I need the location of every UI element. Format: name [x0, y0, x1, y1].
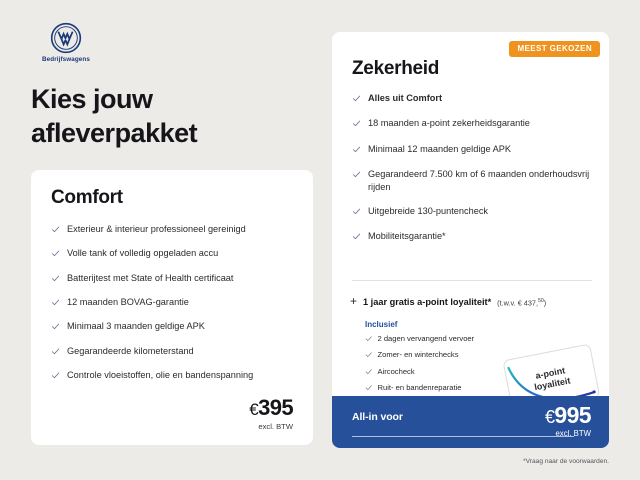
- vw-roundel-logo-icon: [35, 22, 97, 54]
- check-icon: [365, 384, 373, 394]
- zekerheid-feature-item: Alles uit Comfort: [352, 92, 594, 107]
- check-icon: [51, 371, 60, 384]
- comfort-feature-item: Volle tank of volledig opgeladen accu: [51, 247, 293, 262]
- check-icon: [51, 225, 60, 238]
- comfort-feature-label: Gegarandeerde kilometerstand: [67, 345, 194, 358]
- comfort-feature-list: Exterieur & interieur professioneel gere…: [51, 223, 293, 384]
- page-title: Kies jouw afleverpakket: [31, 82, 311, 150]
- comfort-feature-item: Controle vloeistoffen, olie en bandenspa…: [51, 369, 293, 384]
- zekerheid-title: Zekerheid: [352, 58, 439, 80]
- status-badge: MEEST GEKOZEN: [509, 41, 600, 57]
- zekerheid-feature-label: Uitgebreide 130-puntencheck: [368, 205, 488, 218]
- check-icon: [352, 170, 361, 183]
- comfort-feature-item: 12 maanden BOVAG-garantie: [51, 296, 293, 311]
- comfort-feature-label: Batterijtest met State of Health certifi…: [67, 272, 233, 285]
- inclusief-item-label: Aircocheck: [378, 367, 415, 377]
- zekerheid-feature-list: Alles uit Comfort18 maanden a-point zeke…: [352, 92, 594, 255]
- comfort-feature-label: Minimaal 3 maanden geldige APK: [67, 320, 205, 333]
- check-icon: [365, 368, 373, 378]
- check-icon: [51, 322, 60, 335]
- check-icon: [352, 232, 361, 245]
- comfort-currency: €: [249, 400, 258, 419]
- zekerheid-feature-item: Mobiliteitsgarantie*: [352, 230, 594, 245]
- zekerheid-feature-label: Mobiliteitsgarantie*: [368, 230, 446, 243]
- check-icon: [365, 351, 373, 361]
- comfort-feature-item: Batterijtest met State of Health certifi…: [51, 272, 293, 287]
- comfort-feature-item: Minimaal 3 maanden geldige APK: [51, 320, 293, 335]
- comfort-amount: 395: [258, 395, 293, 420]
- zekerheid-feature-label: 18 maanden a-point zekerheidsgarantie: [368, 117, 530, 130]
- divider: [352, 280, 592, 281]
- zekerheid-feature-item: Gegarandeerd 7.500 km of 6 maanden onder…: [352, 168, 594, 195]
- comfort-feature-item: Gegarandeerde kilometerstand: [51, 345, 293, 360]
- allin-label: All-in voor: [352, 411, 403, 423]
- check-icon: [352, 207, 361, 220]
- check-icon: [352, 94, 361, 107]
- inclusief-title: Inclusief: [365, 320, 565, 329]
- loyalty-value: (t.w.v. € 437,50): [497, 298, 546, 307]
- comfort-price: €395: [249, 397, 293, 419]
- allin-amount: 995: [554, 402, 591, 428]
- check-icon: [51, 249, 60, 262]
- zekerheid-feature-item: Uitgebreide 130-puntencheck: [352, 205, 594, 220]
- loyalty-label: 1 jaar gratis a-point loyaliteit*: [363, 297, 491, 307]
- headline-line-2: afleverpakket: [31, 116, 311, 150]
- zekerheid-feature-item: 18 maanden a-point zekerheidsgarantie: [352, 117, 594, 132]
- loyalty-value-prefix: (t.w.v. € 437,: [497, 298, 538, 307]
- brand-block: Bedrijfswagens: [35, 22, 97, 63]
- inclusief-item-label: Zomer- en winterchecks: [378, 350, 459, 360]
- left-column: Bedrijfswagens Kies jouw afleverpakket C…: [0, 0, 332, 480]
- zekerheid-feature-label: Minimaal 12 maanden geldige APK: [368, 143, 511, 156]
- comfort-feature-item: Exterieur & interieur professioneel gere…: [51, 223, 293, 238]
- zekerheid-feature-label: Alles uit Comfort: [368, 92, 442, 105]
- brand-sublabel: Bedrijfswagens: [35, 57, 97, 63]
- check-icon: [365, 335, 373, 345]
- zekerheid-package-card[interactable]: MEEST GEKOZEN Zekerheid Alles uit Comfor…: [332, 32, 609, 444]
- comfort-feature-label: Exterieur & interieur professioneel gere…: [67, 223, 246, 236]
- footer-rule: [352, 436, 574, 437]
- comfort-package-card[interactable]: Comfort Exterieur & interieur profession…: [31, 170, 313, 445]
- headline-line-1: Kies jouw: [31, 82, 311, 116]
- allin-currency: €: [545, 407, 554, 427]
- comfort-feature-label: Volle tank of volledig opgeladen accu: [67, 247, 218, 260]
- allin-price: €995: [545, 404, 591, 427]
- comfort-feature-label: 12 maanden BOVAG-garantie: [67, 296, 189, 309]
- check-icon: [51, 298, 60, 311]
- promo-page: Bedrijfswagens Kies jouw afleverpakket C…: [0, 0, 640, 480]
- comfort-title: Comfort: [51, 187, 293, 209]
- comfort-feature-label: Controle vloeistoffen, olie en bandenspa…: [67, 369, 253, 382]
- allin-price-footer: All-in voor €995 excl. BTW: [332, 396, 609, 448]
- check-icon: [51, 347, 60, 360]
- inclusief-item-label: 2 dagen vervangend vervoer: [378, 334, 475, 344]
- disclaimer-text: *Vraag naar de voorwaarden.: [523, 458, 609, 465]
- check-icon: [352, 119, 361, 132]
- check-icon: [352, 145, 361, 158]
- comfort-price-note: excl. BTW: [249, 422, 293, 431]
- comfort-price-block: €395 excl. BTW: [249, 397, 293, 431]
- zekerheid-feature-item: Minimaal 12 maanden geldige APK: [352, 143, 594, 158]
- loyalty-value-suffix: ): [544, 298, 546, 307]
- inclusief-item-label: Ruit- en bandenreparatie: [378, 383, 462, 393]
- loyalty-row: + 1 jaar gratis a-point loyaliteit* (t.w…: [350, 295, 546, 307]
- zekerheid-feature-label: Gegarandeerd 7.500 km of 6 maanden onder…: [368, 168, 594, 195]
- check-icon: [51, 274, 60, 287]
- plus-icon: +: [350, 295, 357, 307]
- allin-price-block: €995 excl. BTW: [545, 404, 591, 438]
